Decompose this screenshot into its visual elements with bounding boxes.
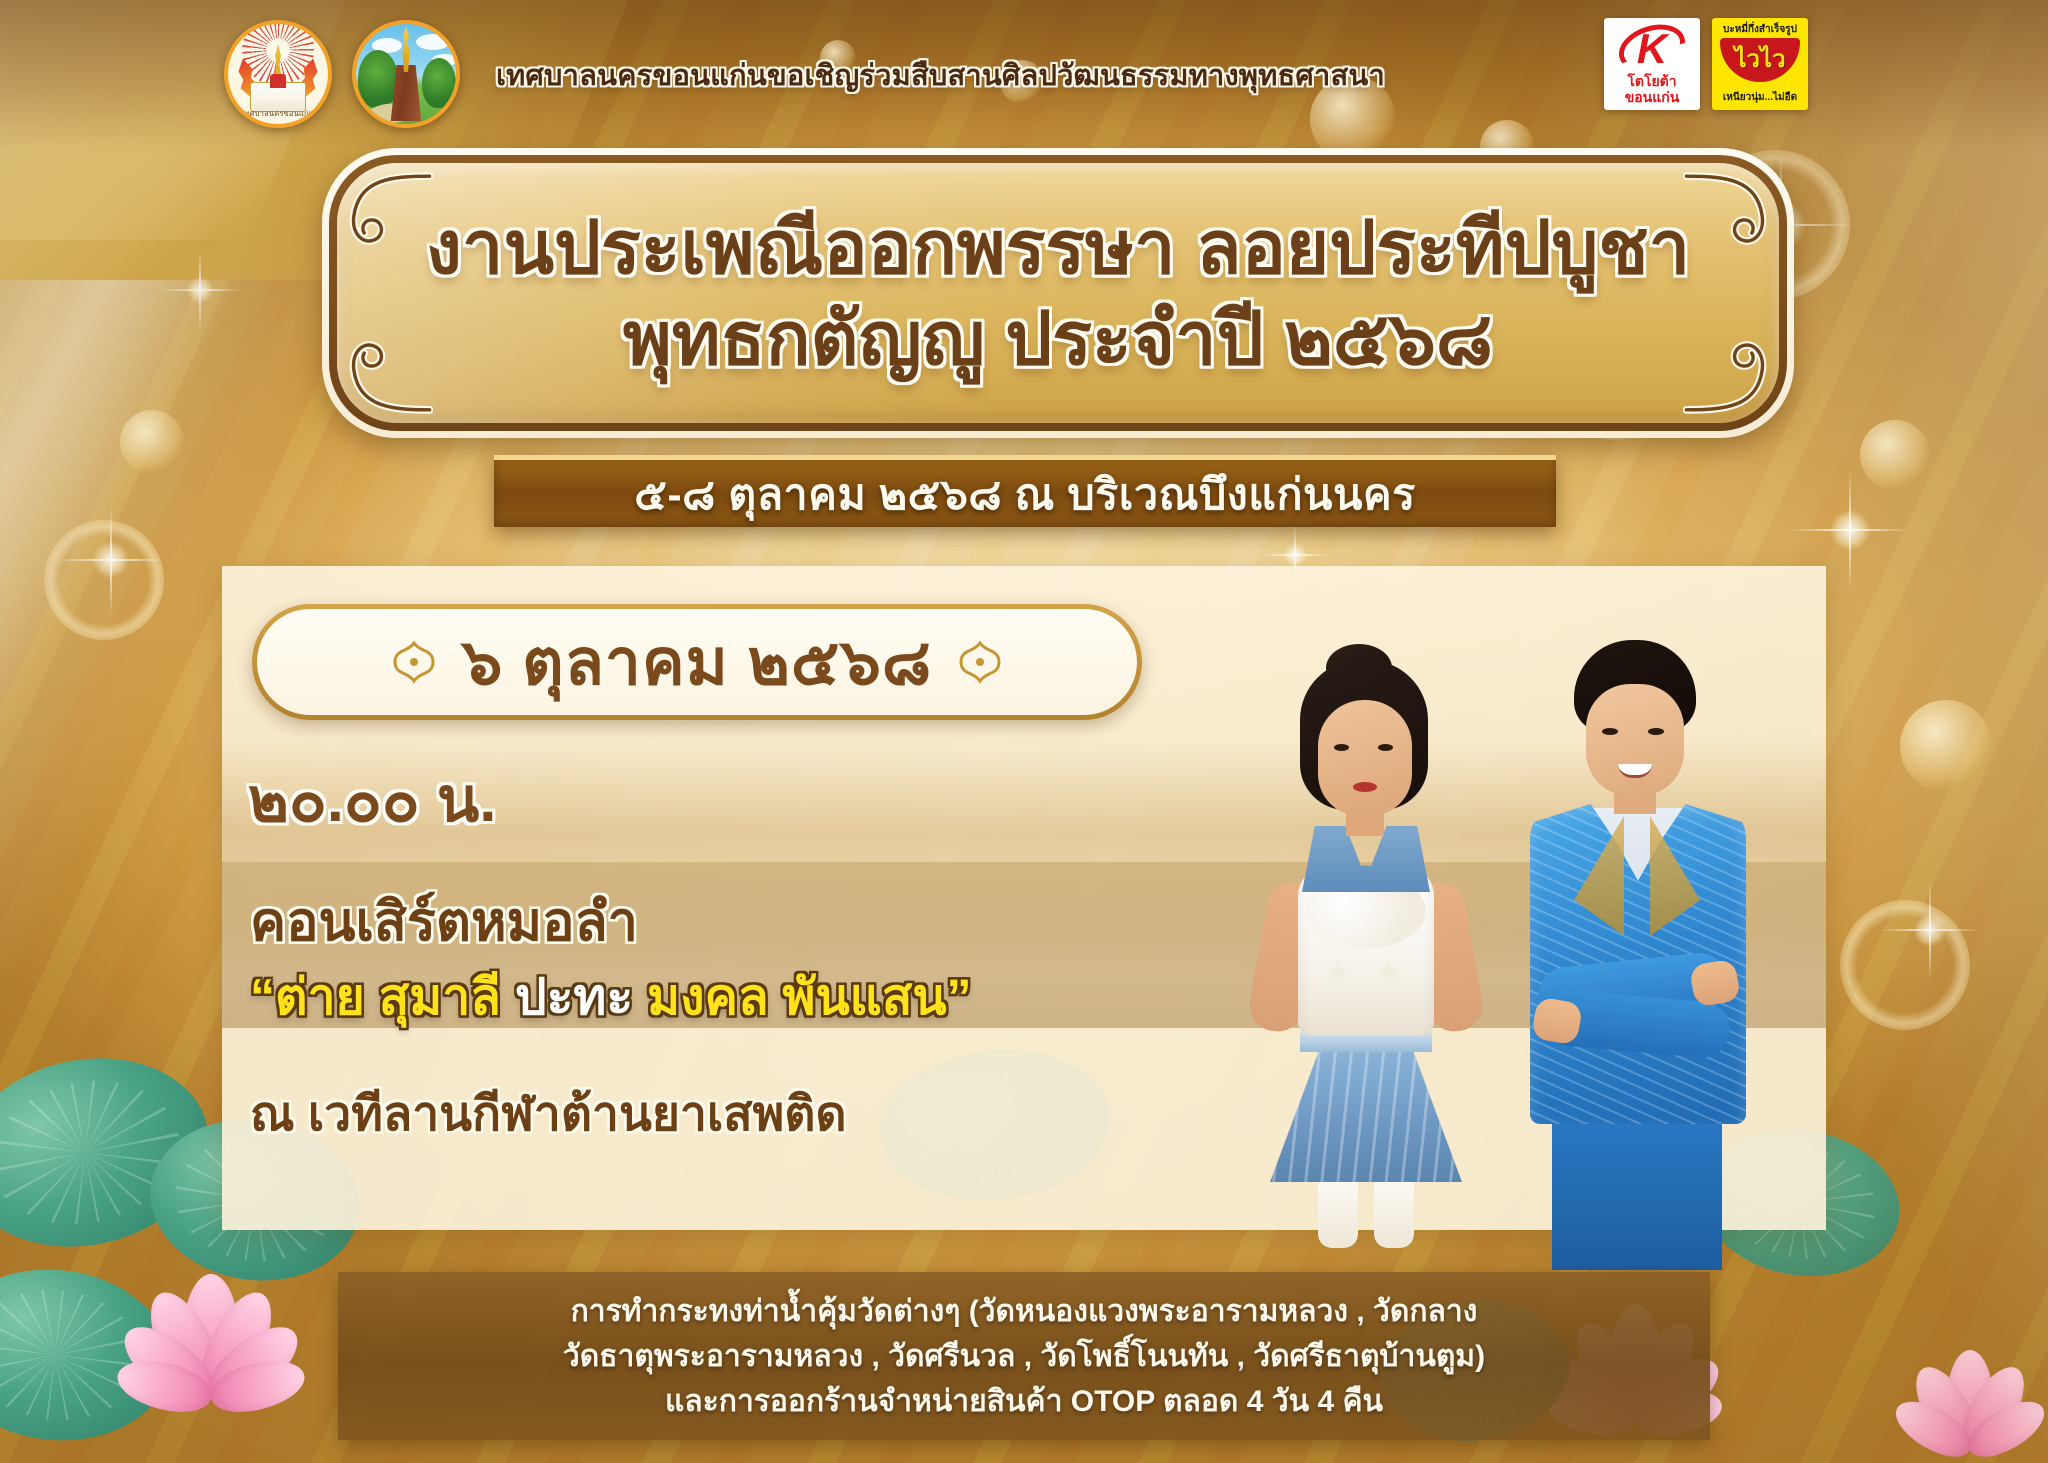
title-plaque: งานประเพณีออกพรรษา ลอยประทีปบูชา พุทธกตั…: [322, 148, 1794, 438]
poster-header: เทศบาลนครขอนแก่น เทศบาลนครขอนแก่นขอเชิญร…: [0, 0, 2048, 150]
phrathat-kham-kaen-logo: [352, 20, 460, 128]
corner-flourish-icon: [1683, 171, 1769, 257]
program-date-pill-fill: ๖ ตุลาคม ๒๕๖๘: [257, 609, 1137, 715]
program-date-text: ๖ ตุลาคม ๒๕๖๘: [462, 611, 933, 713]
plaque-inner-panel: งานประเพณีออกพรรษา ลอยประทีปบูชา พุทธกตั…: [337, 163, 1779, 423]
waiwai-brand-label: ไวไว: [1734, 48, 1785, 72]
concert-artists: “ต่าย สุมาลี ปะทะ มงคล พันแสน”: [222, 958, 1222, 1037]
concert-venue-text: ณ เวทีลานกีฬาต้านยาเสพติด: [250, 1076, 847, 1152]
corner-flourish-icon: [347, 329, 433, 415]
concert-heading: คอนเสิร์ตหมอลำ: [222, 878, 1202, 964]
concert-venue: ณ เวทีลานกีฬาต้านยาเสพติด: [222, 1076, 1282, 1152]
artist-name-first: “ต่าย สุมาลี: [250, 969, 515, 1025]
artist-versus-label: ปะทะ: [515, 969, 633, 1025]
artists-line: “ต่าย สุมาลี ปะทะ มงคล พันแสน”: [250, 958, 972, 1037]
program-time-text: ๒๐.๐๐ น.: [248, 751, 496, 849]
program-date-pill: ๖ ตุลาคม ๒๕๖๘: [252, 604, 1142, 720]
toyota-label-line2: ขอนแก่น: [1604, 90, 1700, 105]
ornament-right-icon: [958, 640, 1002, 684]
program-time: ๒๐.๐๐ น.: [222, 751, 1122, 849]
tree-right-icon: [422, 58, 456, 108]
toyota-k-mark: K: [1637, 28, 1667, 70]
event-title-line1: งานประเพณีออกพรรษา ลอยประทีปบูชา: [426, 204, 1690, 291]
footer-line-3: และการออกร้านจำหน่ายสินค้า OTOP ตลอด 4 ว…: [665, 1382, 1383, 1421]
seal-ring-label: เทศบาลนครขอนแก่น: [228, 108, 328, 120]
festival-poster: เทศบาลนครขอนแก่น เทศบาลนครขอนแก่นขอเชิญร…: [0, 0, 2048, 1463]
corner-flourish-icon: [347, 171, 433, 257]
concert-heading-text: คอนเสิร์ตหมอลำ: [250, 878, 638, 964]
corner-flourish-icon: [1683, 329, 1769, 415]
artist-name-second: มงคล พันแสน”: [633, 969, 971, 1025]
toyota-label-line1: โตโยต้า: [1604, 74, 1700, 89]
cloud-icon: [416, 34, 450, 50]
footer-line-2: วัดธาตุพระอารามหลวง , วัดศรีนวล , วัดโพธ…: [563, 1337, 1485, 1376]
waiwai-top-label: บะหมี่กึ่งสำเร็จรูป: [1712, 22, 1808, 37]
sponsor-logo-toyota: K โตโยต้า ขอนแก่น: [1604, 18, 1700, 110]
khon-kaen-municipal-seal-logo: เทศบาลนครขอนแก่น: [224, 20, 332, 128]
footer-line-1: การทำกระทงท่าน้ำคุ้มวัดต่างๆ (วัดหนองแวง…: [571, 1292, 1478, 1331]
waiwai-brand-band: ไวไว: [1720, 38, 1800, 82]
event-title-line2: พุทธกตัญญู ประจำปี ๒๕๖๘: [623, 295, 1493, 382]
invitation-text: เทศบาลนครขอนแก่นขอเชิญร่วมสืบสานศิลปวัฒน…: [496, 52, 1556, 98]
footer-notes: การทำกระทงท่าน้ำคุ้มวัดต่างๆ (วัดหนองแวง…: [338, 1272, 1710, 1440]
ornament-left-icon: [392, 640, 436, 684]
event-date-range-text: ๕-๘ ตุลาคม ๒๕๖๘ ณ บริเวณบึงแก่นนคร: [634, 460, 1415, 528]
tree-left-icon: [358, 50, 398, 108]
event-date-banner: ๕-๘ ตุลาคม ๒๕๖๘ ณ บริเวณบึงแก่นนคร: [494, 455, 1556, 527]
sponsor-logo-waiwai: บะหมี่กึ่งสำเร็จรูป ไวไว เหนียวนุ่ม...ไม…: [1712, 18, 1808, 110]
program-card: ๖ ตุลาคม ๒๕๖๘ ๒๐.๐๐ น. คอนเสิร์ตหมอลำ “ต…: [222, 566, 1826, 1230]
waiwai-bottom-label: เหนียวนุ่ม...ไม่อืด: [1712, 90, 1808, 105]
